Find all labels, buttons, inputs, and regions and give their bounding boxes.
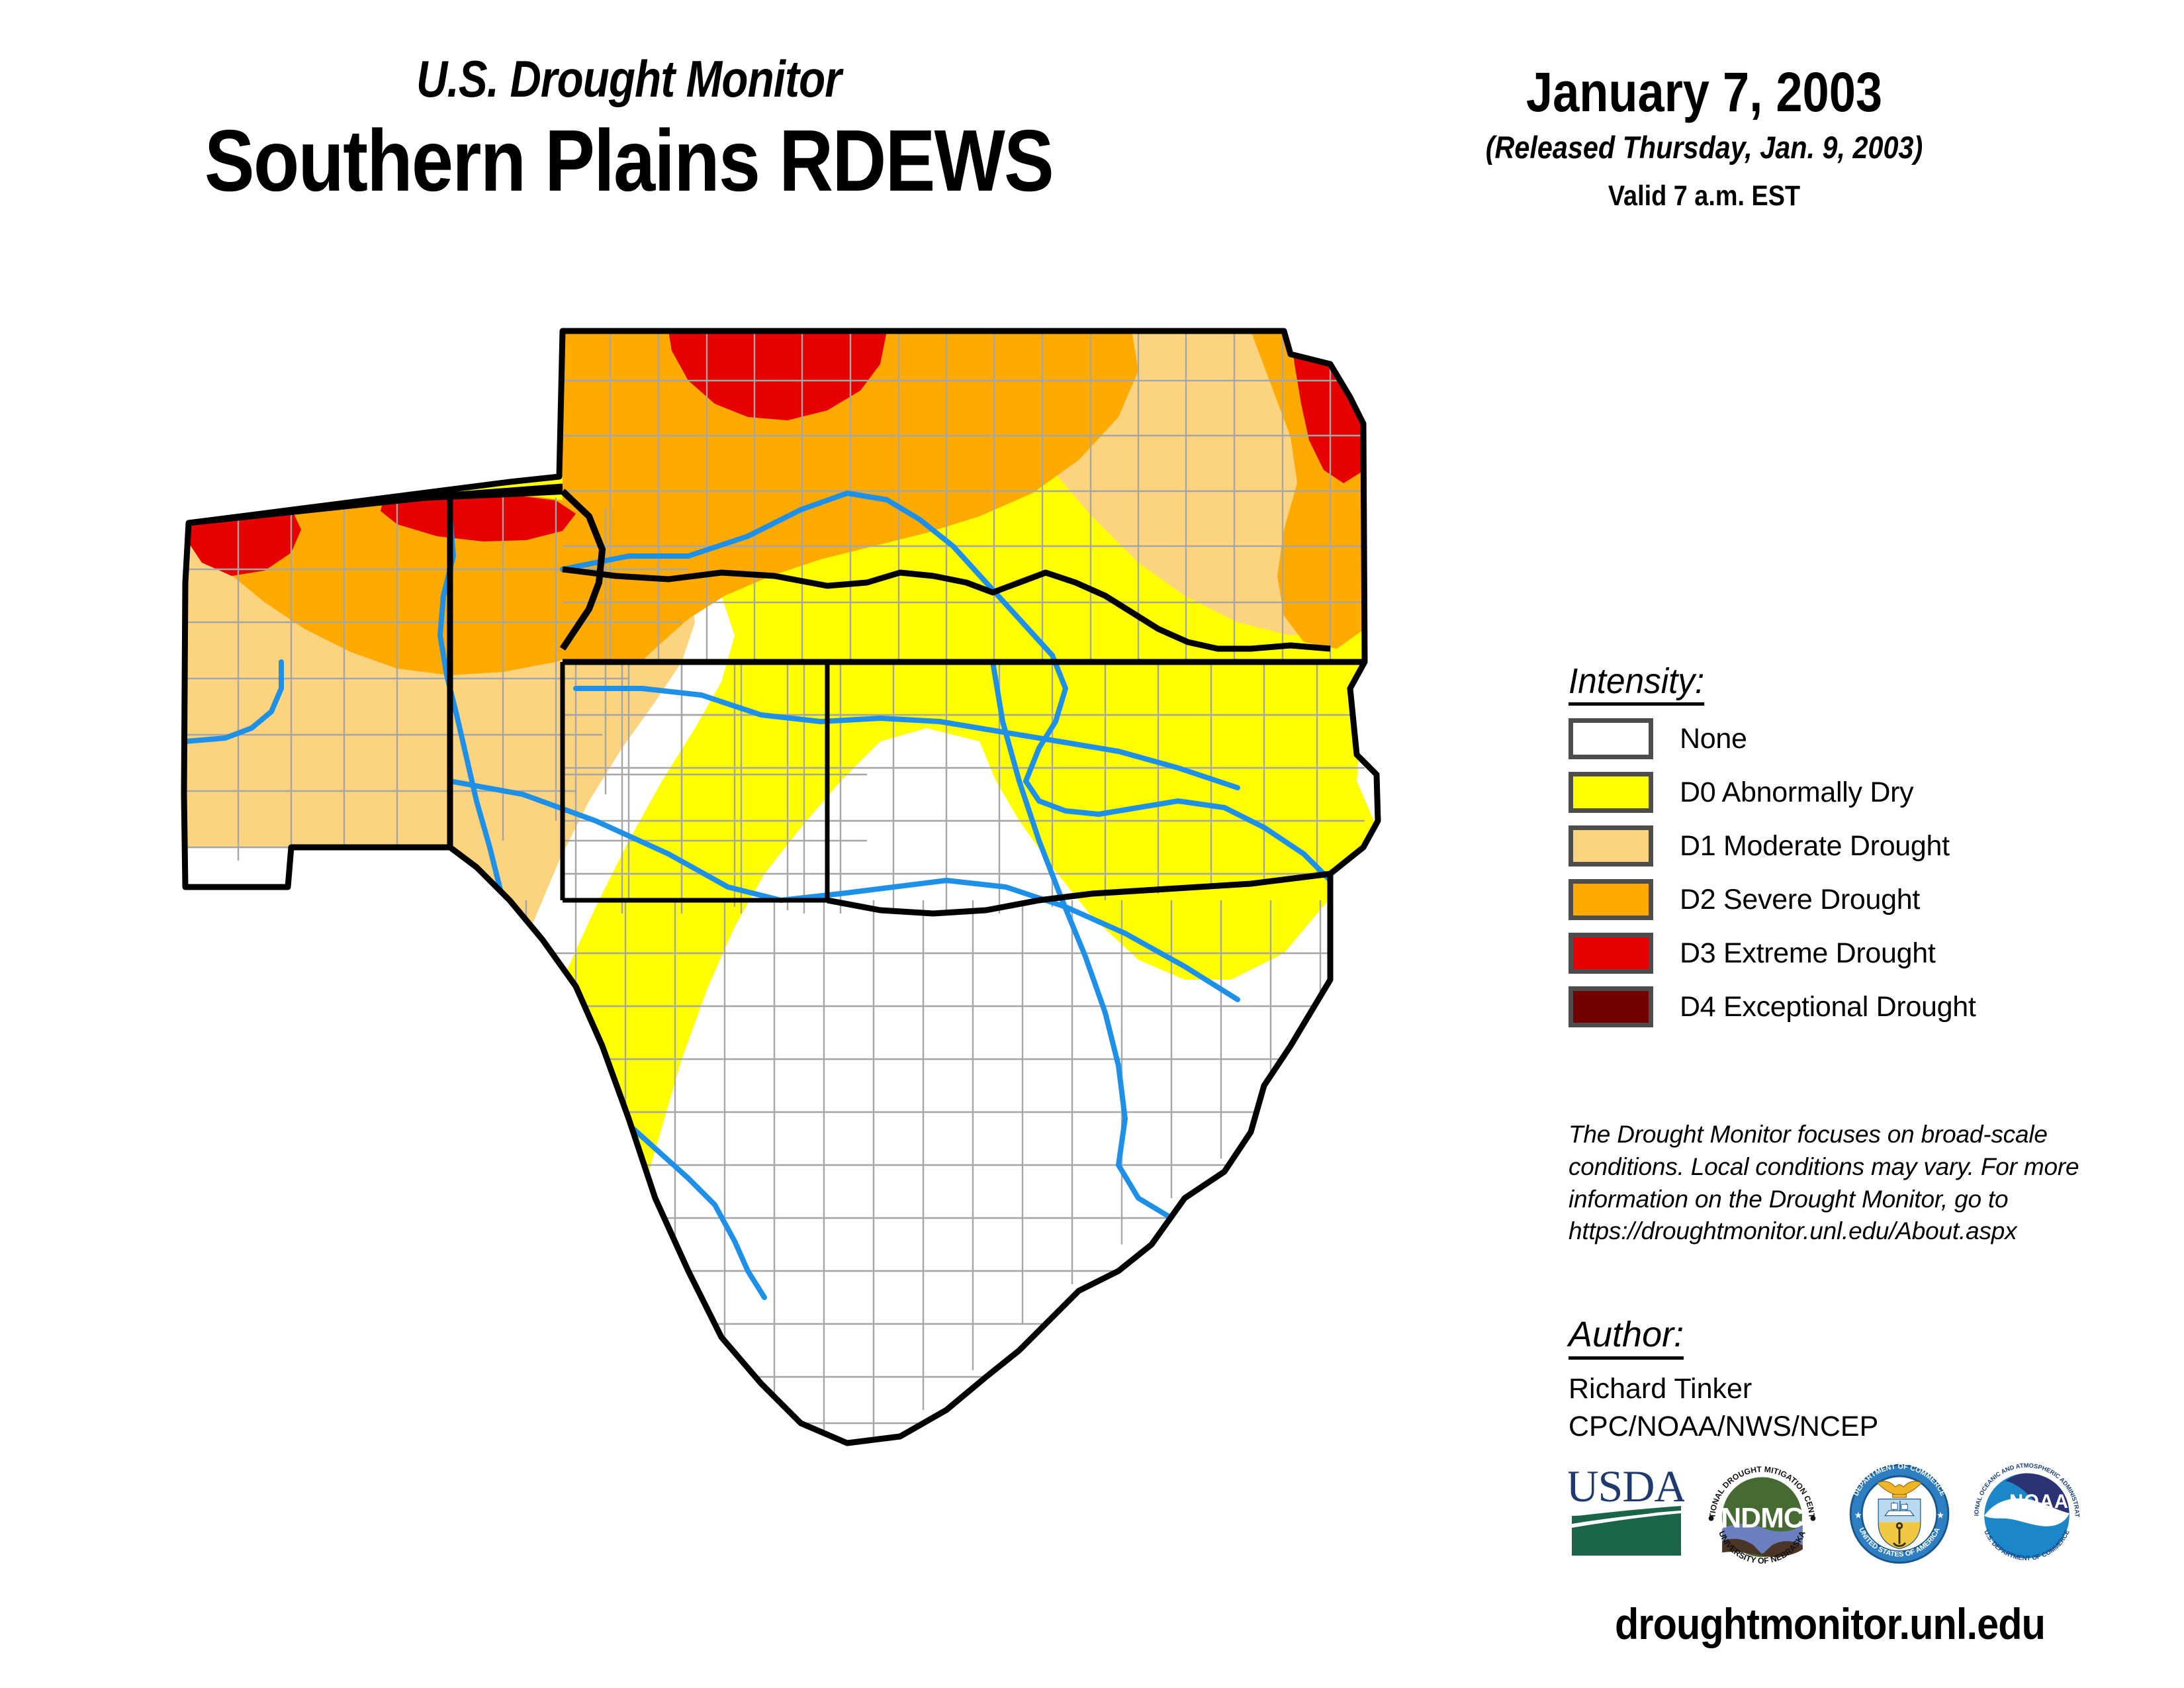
ndmc-logo[interactable]: NDMC NATIONAL DROUGHT MITIGATION CENTER …	[1701, 1450, 1823, 1575]
usda-logo[interactable]: USDA	[1569, 1450, 1684, 1572]
kicker-text: U.S. Drought Monitor	[101, 53, 1157, 105]
noaa-logo[interactable]: NOAA NATIONAL OCEANIC AND ATMOSPHERIC AD…	[1966, 1450, 2088, 1575]
author-block: Richard Tinker CPC/NOAA/NWS/NCEP	[1569, 1370, 2098, 1446]
svg-text:NOAA: NOAA	[2009, 1491, 2069, 1513]
svg-text:USDA: USDA	[1569, 1461, 1684, 1511]
legend-row-none[interactable]: None	[1569, 718, 2071, 759]
legend-swatch-d0	[1569, 772, 1653, 813]
legend: Intensity: None D0 Abnormally Dry D1 Mod…	[1569, 662, 2071, 1027]
disclaimer-text: The Drought Monitor focuses on broad-sca…	[1569, 1119, 2098, 1248]
legend-swatch-d4	[1569, 986, 1653, 1027]
svg-text:★: ★	[1936, 1511, 1944, 1521]
legend-swatch-none	[1569, 718, 1653, 759]
legend-swatch-d1	[1569, 825, 1653, 867]
legend-row-d0[interactable]: D0 Abnormally Dry	[1569, 772, 2071, 813]
author-heading: Author:	[1569, 1314, 1684, 1360]
legend-label-d3: D3 Extreme Drought	[1680, 937, 1936, 970]
valid-time: Valid 7 a.m. EST	[1398, 180, 2010, 212]
author-affiliation: CPC/NOAA/NWS/NCEP	[1569, 1408, 2098, 1446]
release-date: (Released Thursday, Jan. 9, 2003)	[1398, 129, 2010, 165]
drought-monitor-page: U.S. Drought Monitor Southern Plains RDE…	[0, 0, 2184, 1688]
page-title: Southern Plains RDEWS	[88, 115, 1169, 207]
logo-strip: USDA NDMC NATIONAL DROUGHT MITI	[1569, 1450, 2091, 1582]
legend-label-d1: D1 Moderate Drought	[1680, 830, 1950, 863]
legend-title: Intensity:	[1569, 662, 1704, 706]
date-block: January 7, 2003 (Released Thursday, Jan.…	[1357, 63, 2052, 212]
legend-swatch-d3	[1569, 933, 1653, 974]
svg-text:★: ★	[1854, 1511, 1862, 1521]
drought-map[interactable]	[165, 318, 1423, 1615]
legend-label-d0: D0 Abnormally Dry	[1680, 776, 1913, 809]
department-of-commerce-logo[interactable]: DEPARTMENT OF COMMERCE UNITED STATES OF …	[1840, 1450, 1959, 1575]
title-block: U.S. Drought Monitor Southern Plains RDE…	[0, 53, 1257, 207]
valid-date: January 7, 2003	[1406, 63, 2003, 121]
legend-row-d1[interactable]: D1 Moderate Drought	[1569, 825, 2071, 867]
legend-label-d4: D4 Exceptional Drought	[1680, 991, 1976, 1023]
legend-label-none: None	[1680, 723, 1747, 755]
legend-row-d4[interactable]: D4 Exceptional Drought	[1569, 986, 2071, 1027]
site-url[interactable]: droughtmonitor.unl.edu	[1595, 1599, 2066, 1649]
legend-row-d3[interactable]: D3 Extreme Drought	[1569, 933, 2071, 974]
legend-row-d2[interactable]: D2 Severe Drought	[1569, 879, 2071, 920]
legend-label-d2: D2 Severe Drought	[1680, 884, 1920, 916]
author-name: Richard Tinker	[1569, 1370, 2098, 1408]
legend-swatch-d2	[1569, 879, 1653, 920]
svg-text:NDMC: NDMC	[1721, 1502, 1803, 1534]
